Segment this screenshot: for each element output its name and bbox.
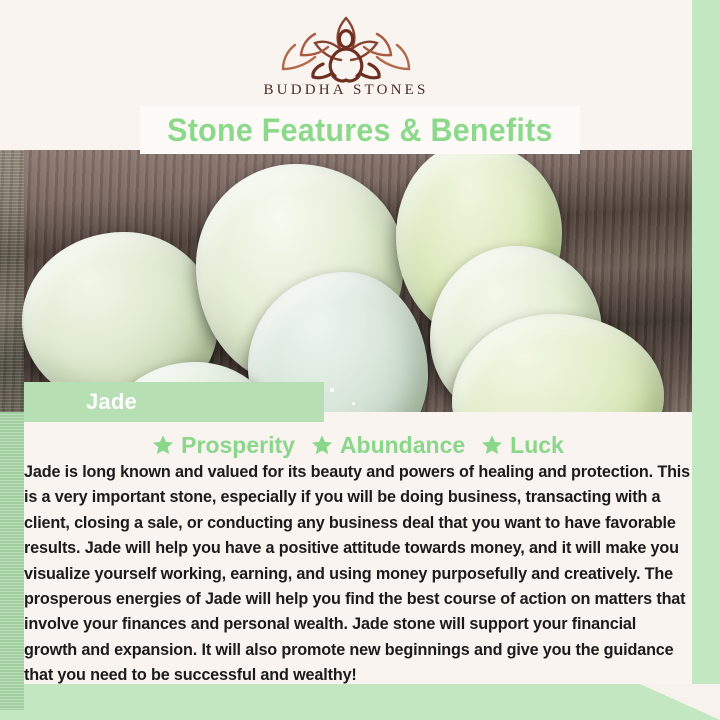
stone-name-band: Jade	[24, 382, 324, 422]
frame-accent-right	[690, 0, 720, 546]
benefit-label: Luck	[510, 432, 564, 459]
star-icon	[311, 434, 333, 456]
star-icon	[481, 434, 503, 456]
benefits-row: Prosperity Abundance Luck	[24, 428, 692, 462]
brand-logo: BUDDHA STONES	[0, 0, 692, 110]
sparkle	[330, 388, 334, 392]
frame-accent-left-texture	[0, 150, 24, 710]
frame-accent-bottom-taper	[640, 684, 720, 720]
benefit-label: Abundance	[340, 432, 465, 459]
title-banner: Stone Features & Benefits	[140, 106, 580, 154]
page-title: Stone Features & Benefits	[167, 112, 553, 149]
benefit-item: Prosperity	[152, 432, 295, 459]
stone-name: Jade	[86, 389, 137, 415]
infographic-card: BUDDHA STONES Stone Features & Benefits …	[0, 0, 720, 720]
frame-accent-bottom	[0, 684, 720, 720]
benefit-label: Prosperity	[181, 432, 295, 459]
benefit-item: Luck	[481, 432, 564, 459]
frame-accent-right-taper	[690, 546, 720, 572]
stone-description: Jade is long known and valued for its be…	[24, 460, 690, 689]
brand-name: BUDDHA STONES	[263, 82, 428, 99]
lotus-meditation-icon	[271, 12, 421, 86]
sparkle	[352, 402, 355, 405]
star-icon	[152, 434, 174, 456]
benefit-item: Abundance	[311, 432, 465, 459]
stone-photo	[0, 150, 692, 412]
